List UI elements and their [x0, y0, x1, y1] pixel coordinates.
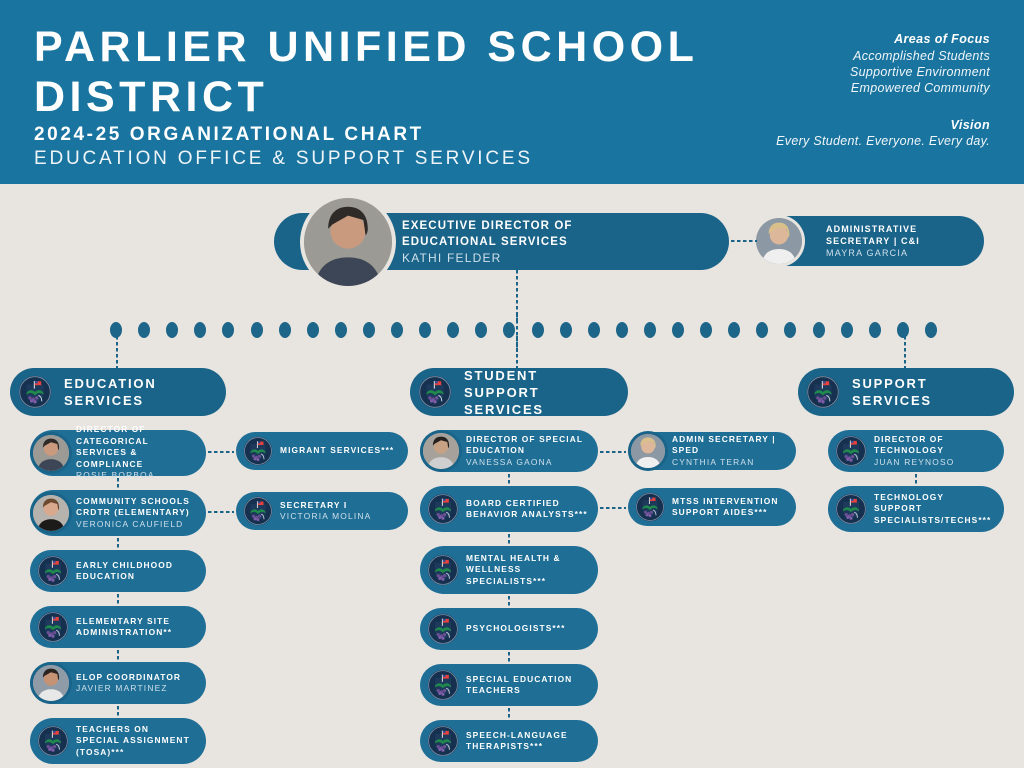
column-heading-1[interactable]: EducationServices	[10, 368, 226, 416]
areas-of-focus-item: Empowered Community	[850, 80, 990, 96]
node-role: Student SupportServices	[464, 367, 618, 418]
connector-dot	[532, 322, 544, 338]
node-role: EducationServices	[64, 375, 216, 409]
connector-dot	[644, 322, 656, 338]
org-node[interactable]: Board Certified Behavior Analysts***	[420, 486, 598, 532]
avatar	[631, 434, 665, 468]
node-role: Teachers on Special Assignment (TOSA)***	[76, 724, 196, 759]
executive-avatar	[304, 198, 392, 286]
district-crest-icon	[806, 375, 840, 409]
node-role-line: Secretary | C&I	[826, 235, 974, 247]
node-role: Psychologists***	[466, 623, 588, 635]
org-node[interactable]: Technology Support Specialists/Techs***	[828, 486, 1004, 532]
areas-of-focus-item: Accomplished Students	[850, 48, 990, 64]
connector-line	[904, 336, 906, 368]
connector-dot	[560, 322, 572, 338]
node-role: Elementary Site Administration**	[76, 616, 196, 639]
node-role: MTSS Intervention Support Aides***	[672, 496, 786, 519]
column-heading-2[interactable]: Student SupportServices	[410, 368, 628, 416]
connector-dot	[756, 322, 768, 338]
org-node[interactable]: Early Childhood Education	[30, 550, 206, 592]
column-heading-line: Services	[64, 392, 216, 409]
column-heading-line: Services	[852, 392, 1004, 409]
connector-line	[117, 650, 119, 660]
connector-dot	[251, 322, 263, 338]
connector-dot	[503, 322, 515, 338]
column-heading-line: Support	[852, 375, 1004, 392]
connector-dot	[363, 322, 375, 338]
areas-of-focus-item: Supportive Environment	[850, 64, 990, 80]
node-person: Kathi Felder	[402, 250, 719, 266]
connector-line	[508, 596, 510, 606]
connector-line	[915, 474, 917, 484]
node-role: Board Certified Behavior Analysts***	[466, 498, 588, 521]
column-heading-3[interactable]: SupportServices	[798, 368, 1014, 416]
node-role: Community Schools CRDTR (Elementary)	[76, 496, 196, 519]
node-role: Director of Technology	[874, 434, 994, 457]
connector-dot	[616, 322, 628, 338]
org-side-node[interactable]: Migrant Services***	[236, 432, 408, 470]
district-crest-icon	[243, 436, 273, 466]
district-crest-icon	[37, 611, 69, 643]
node-person: Cynthia Teran	[672, 457, 786, 469]
org-chart-canvas: Executive Director ofEducational Service…	[0, 184, 1024, 768]
district-crest-icon	[37, 725, 69, 757]
connector-dot	[391, 322, 403, 338]
node-role: ELOP Coordinator	[76, 672, 196, 684]
connector-dot	[475, 322, 487, 338]
connector-dot	[419, 322, 431, 338]
node-person: Veronica Caufield	[76, 519, 196, 531]
node-person: Mayra Garcia	[826, 247, 974, 259]
org-node[interactable]: Psychologists***	[420, 608, 598, 650]
connector-dot	[307, 322, 319, 338]
node-role-line: Educational Services	[402, 234, 719, 250]
chart-scope: Education Office & Support Services	[34, 148, 533, 170]
connector-dot	[138, 322, 150, 338]
connector-dot	[925, 322, 937, 338]
admin-secretary-avatar	[756, 218, 802, 264]
connector-line	[116, 336, 118, 368]
district-crest-icon	[243, 496, 273, 526]
node-role: Director of Special Education	[466, 434, 588, 457]
org-side-node[interactable]: Secretary IVictoria Molina	[236, 492, 408, 530]
node-role: Speech-Language Therapists***	[466, 730, 588, 753]
vision-heading: Vision	[776, 118, 990, 132]
district-crest-icon	[427, 725, 459, 757]
connector-dot	[672, 322, 684, 338]
connector-dot	[588, 322, 600, 338]
org-node[interactable]: Elementary Site Administration**	[30, 606, 206, 648]
connector-dot	[194, 322, 206, 338]
node-person: Javier Martinez	[76, 683, 196, 695]
connector-dot	[813, 322, 825, 338]
district-title: Parlier Unified School District	[34, 22, 734, 122]
node-role: Technology Support Specialists/Techs***	[874, 492, 994, 527]
org-node[interactable]: Director of Categorical Services & Compl…	[30, 430, 206, 476]
avatar	[33, 665, 69, 701]
district-crest-icon	[418, 375, 452, 409]
node-role-line: Administrative	[826, 223, 974, 235]
org-node[interactable]: Teachers on Special Assignment (TOSA)***	[30, 718, 206, 764]
district-crest-icon	[18, 375, 52, 409]
column-heading-line: Student Support	[464, 367, 618, 401]
connector-dot	[841, 322, 853, 338]
node-role: Migrant Services***	[280, 445, 398, 457]
node-person: Vanessa Gaona	[466, 457, 588, 469]
district-crest-icon	[635, 492, 665, 522]
node-role: Executive Director ofEducational Service…	[402, 218, 719, 250]
org-node[interactable]: Community Schools CRDTR (Elementary)Vero…	[30, 490, 206, 536]
column-heading-line: Services	[464, 401, 618, 418]
avatar	[423, 433, 459, 469]
vision-statement: Every Student. Everyone. Every day.	[776, 134, 990, 148]
connector-line	[117, 706, 119, 716]
connector-dot	[447, 322, 459, 338]
org-side-node[interactable]: MTSS Intervention Support Aides***	[628, 488, 796, 526]
connector-dot	[166, 322, 178, 338]
district-crest-icon	[427, 669, 459, 701]
district-crest-icon	[37, 555, 69, 587]
connector-line	[508, 534, 510, 544]
connector-dot	[700, 322, 712, 338]
avatar	[33, 495, 69, 531]
district-crest-icon	[427, 554, 459, 586]
node-role: Early Childhood Education	[76, 560, 196, 583]
node-role: Admin Secretary | SPED	[672, 434, 786, 457]
org-node[interactable]: Mental Health & Wellness Specialists***	[420, 546, 598, 594]
connector-line	[508, 708, 510, 718]
vision-block: Vision Every Student. Everyone. Every da…	[776, 118, 990, 148]
connector-dot	[279, 322, 291, 338]
connector-line	[516, 336, 518, 368]
connector-line	[208, 511, 234, 513]
org-node[interactable]: Director of TechnologyJuan Reynoso	[828, 430, 1004, 472]
node-person: Rosie Borboa	[76, 470, 196, 482]
node-role: Mental Health & Wellness Specialists***	[466, 553, 588, 588]
areas-of-focus-block: Areas of Focus Accomplished Students Sup…	[850, 32, 990, 96]
connector-line	[117, 478, 119, 488]
connector-line	[117, 538, 119, 548]
connector-dot	[222, 322, 234, 338]
org-node[interactable]: Director of Special EducationVanessa Gao…	[420, 430, 598, 472]
node-role: Secretary I	[280, 500, 398, 512]
org-node[interactable]: Speech-Language Therapists***	[420, 720, 598, 762]
node-role-line: Executive Director of	[402, 218, 719, 234]
node-person: Juan Reynoso	[874, 457, 994, 469]
node-person: Victoria Molina	[280, 511, 398, 523]
connector-dot	[869, 322, 881, 338]
org-node[interactable]: ELOP CoordinatorJavier Martinez	[30, 662, 206, 704]
areas-of-focus-heading: Areas of Focus	[850, 32, 990, 46]
node-role: SupportServices	[852, 375, 1004, 409]
org-node[interactable]: Special Education Teachers	[420, 664, 598, 706]
node-role: AdministrativeSecretary | C&I	[826, 223, 974, 247]
district-crest-icon	[835, 435, 867, 467]
connector-dot	[784, 322, 796, 338]
connector-line	[600, 451, 626, 453]
node-role: Special Education Teachers	[466, 674, 588, 697]
connector-line	[508, 474, 510, 484]
avatar	[33, 435, 69, 471]
node-role: Director of Categorical Services & Compl…	[76, 424, 196, 470]
district-crest-icon	[427, 493, 459, 525]
column-heading-line: Education	[64, 375, 216, 392]
connector-line	[731, 240, 757, 242]
page-header: Parlier Unified School District 2024-25 …	[0, 0, 1024, 184]
connector-line	[208, 451, 234, 453]
connector-dot	[335, 322, 347, 338]
connector-dot	[897, 322, 909, 338]
district-crest-icon	[835, 493, 867, 525]
connector-line	[117, 594, 119, 604]
connector-dot	[728, 322, 740, 338]
org-side-node[interactable]: Admin Secretary | SPEDCynthia Teran	[628, 432, 796, 470]
district-crest-icon	[427, 613, 459, 645]
chart-subtitle: 2024-25 Organizational Chart	[34, 124, 424, 146]
connector-line	[508, 652, 510, 662]
connector-line	[600, 507, 626, 509]
